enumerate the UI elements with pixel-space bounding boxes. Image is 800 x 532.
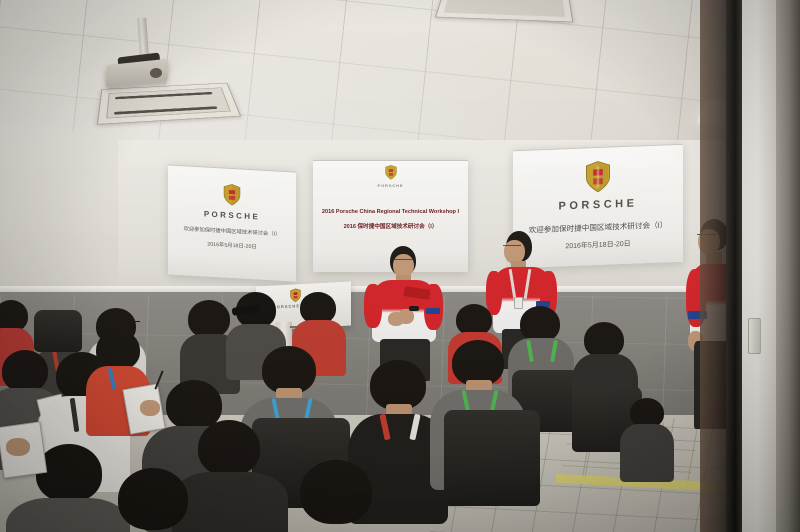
glasses-icon [126,321,140,326]
porsche-wordmark: PORSCHE [558,197,637,212]
door-edge [776,0,800,532]
door-frame [742,0,776,532]
door-gap [726,0,743,532]
head [96,330,140,370]
sponsor-patch [426,308,440,314]
left-arm [364,284,382,328]
porsche-crest-icon [585,161,611,194]
corridor-beyond-door [700,0,728,532]
name-badge [514,297,523,309]
torso [620,424,674,482]
hand [6,438,30,456]
head [188,300,230,338]
chair-back [444,410,540,506]
head [262,346,316,394]
screen-middle-title-en: 2016 Porsche China Regional Technical Wo… [322,209,459,215]
meeting-room-photo: PORSCHE 欢迎参加保时捷中国区域技术研讨会（I） 2016年5月18日-2… [0,0,800,532]
torso [172,472,288,532]
screen-roller [313,160,468,161]
head [300,460,372,524]
head [520,306,560,342]
projection-screen-left: PORSCHE 欢迎参加保时捷中国区域技术研讨会（I） 2016年5月18日-2… [168,164,296,281]
head [118,468,188,530]
screen-left-date-line: 2016年5月18日-20日 [207,240,256,251]
porsche-wordmark: PORSCHE [204,209,260,221]
head [36,444,102,502]
head [2,350,48,392]
door-hinge-icon [748,318,761,354]
screen-right-date-line: 2016年5月18日-20日 [565,239,630,252]
left-arm [486,271,502,315]
hand [140,400,160,416]
head [370,360,426,410]
head [198,420,260,476]
porsche-crest-icon [223,183,241,206]
watch-icon [409,306,419,311]
presenter-center [360,246,452,376]
screen-left-welcome-line: 欢迎参加保时捷中国区域技术研讨会（I） [184,224,281,237]
torso [6,498,130,532]
head [584,322,624,358]
glasses-icon [503,245,521,250]
hand-right [398,309,414,324]
glasses-icon [393,259,413,264]
chair-back [34,310,82,352]
screen-middle-title-cn: 2016 保时捷中国区域技术研讨会（I） [344,222,438,230]
porsche-crest-icon [385,165,397,180]
porsche-wordmark: PORSCHE [378,183,404,188]
